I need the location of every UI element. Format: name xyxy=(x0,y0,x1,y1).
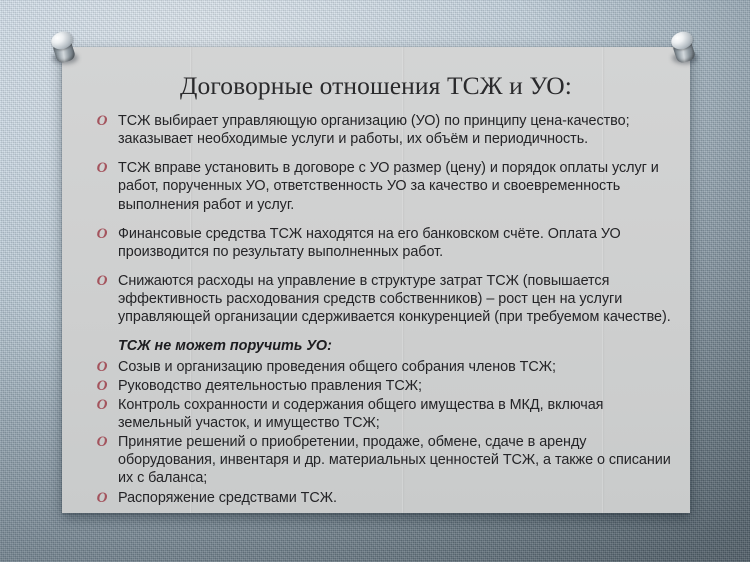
bullet-o-icon: O xyxy=(95,226,109,242)
page-title: Договорные отношения ТСЖ и УО: xyxy=(62,71,690,101)
list-item-text: Распоряжение средствами ТСЖ. xyxy=(118,490,337,506)
list-item-text: Руководство деятельностью правления ТСЖ; xyxy=(118,378,422,394)
bullet-o-icon: O xyxy=(95,490,109,506)
bullet-o-icon: O xyxy=(95,397,109,413)
list-item: O Снижаются расходы на управление в стру… xyxy=(78,272,676,326)
paper-sheet: Договорные отношения ТСЖ и УО: O ТСЖ выб… xyxy=(62,47,690,513)
sub-heading-text: ТСЖ не может поручить УО: xyxy=(118,338,332,354)
bullet-o-icon: O xyxy=(95,359,109,375)
list-item-text: Финансовые средства ТСЖ находятся на его… xyxy=(118,226,621,260)
list-item-text: Принятие решений о приобретении, продаже… xyxy=(118,434,671,486)
list-item: O Контроль сохранности и содержания обще… xyxy=(78,396,676,432)
bullet-list: O ТСЖ выбирает управляющую организацию (… xyxy=(78,112,676,508)
pin-top-left xyxy=(48,30,82,70)
list-item: O ТСЖ выбирает управляющую организацию (… xyxy=(78,112,676,148)
bullet-o-icon: O xyxy=(95,434,109,450)
bullet-o-icon: O xyxy=(95,273,109,289)
list-item-text: ТСЖ выбирает управляющую организацию (УО… xyxy=(118,113,630,147)
list-item-text: Контроль сохранности и содержания общего… xyxy=(118,397,603,431)
sub-heading: ТСЖ не может поручить УО: xyxy=(78,337,676,355)
slide-content: Договорные отношения ТСЖ и УО: O ТСЖ выб… xyxy=(62,47,690,513)
bullet-o-icon: O xyxy=(95,113,109,129)
bullet-o-icon: O xyxy=(95,160,109,176)
list-item: O ТСЖ вправе установить в договоре с УО … xyxy=(78,159,676,213)
list-item-text: Снижаются расходы на управление в структ… xyxy=(118,273,671,325)
list-item: O Созыв и организацию проведения общего … xyxy=(78,358,676,376)
list-item-text: ТСЖ вправе установить в договоре с УО ра… xyxy=(118,160,659,212)
pin-top-right xyxy=(668,30,702,70)
list-item: O Распоряжение средствами ТСЖ. xyxy=(78,489,676,507)
list-item: O Финансовые средства ТСЖ находятся на е… xyxy=(78,225,676,261)
list-item: O Принятие решений о приобретении, прода… xyxy=(78,433,676,487)
list-item: O Руководство деятельностью правления ТС… xyxy=(78,377,676,395)
list-item-text: Созыв и организацию проведения общего со… xyxy=(118,359,556,375)
slide-canvas: Договорные отношения ТСЖ и УО: O ТСЖ выб… xyxy=(0,0,750,562)
bullet-o-icon: O xyxy=(95,378,109,394)
